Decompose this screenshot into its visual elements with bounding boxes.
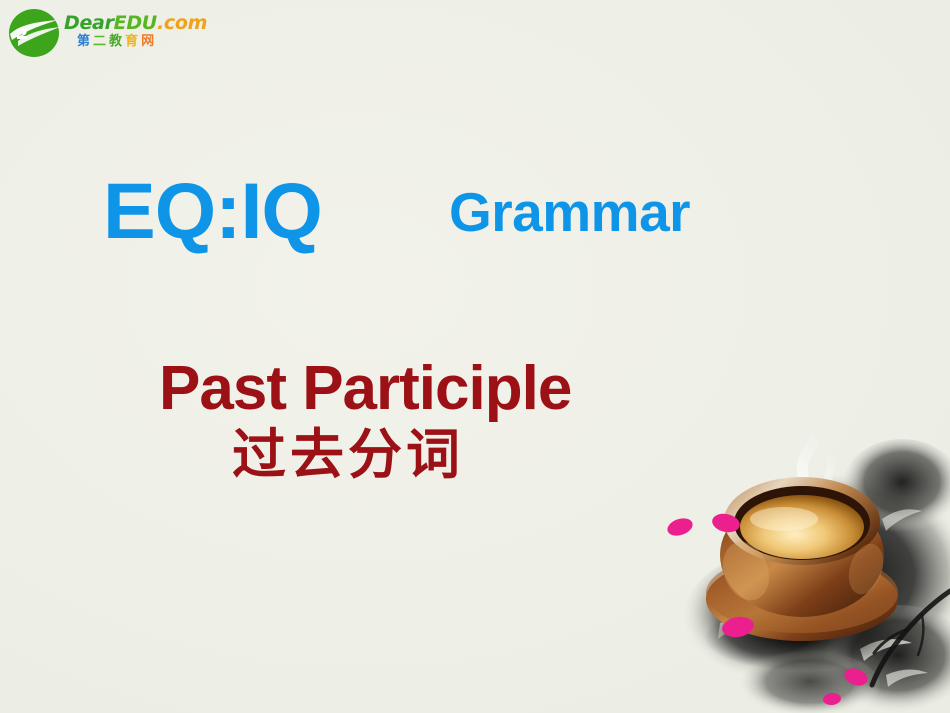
slide-title-english: Past Participle bbox=[159, 358, 571, 420]
logo-brand-text: DearEDU.com bbox=[64, 13, 194, 33]
logo-wordmark: DearEDU.com 第二教育网 bbox=[64, 13, 194, 57]
slide-title-chinese: 过去分词 bbox=[232, 428, 464, 482]
presentation-slide: DearEDU.com 第二教育网 EQ:IQ Grammar Past Par… bbox=[0, 0, 950, 713]
dearedu-logo[interactable]: DearEDU.com 第二教育网 bbox=[6, 5, 196, 63]
logo-cn-char-4: 育 bbox=[125, 34, 141, 49]
eq-iq-heading: EQ:IQ bbox=[103, 171, 322, 250]
grammar-heading: Grammar bbox=[449, 185, 690, 240]
tea-cup-ink-artwork bbox=[650, 423, 950, 713]
logo-mark-icon bbox=[8, 8, 60, 58]
logo-brand-com: .com bbox=[157, 12, 207, 34]
logo-cn-char-1: 第 bbox=[77, 34, 93, 49]
logo-cn-char-3: 教 bbox=[109, 34, 125, 49]
logo-brand-edu: EDU bbox=[114, 12, 157, 34]
logo-cn-char-5: 网 bbox=[141, 34, 157, 49]
logo-cn-char-2: 二 bbox=[93, 34, 109, 49]
logo-brand-chinese: 第二教育网 bbox=[77, 34, 194, 49]
logo-brand-dear: Dear bbox=[64, 12, 114, 34]
